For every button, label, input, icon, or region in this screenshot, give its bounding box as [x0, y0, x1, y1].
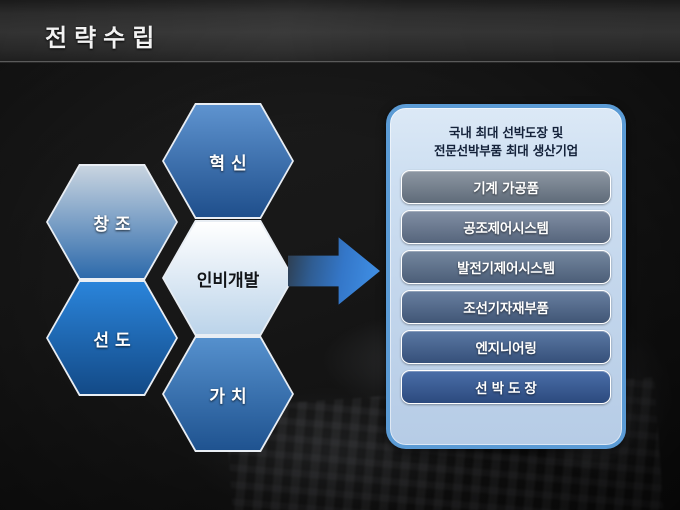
capability-item-label: 공조제어시스템 [463, 217, 549, 237]
capability-item[interactable]: 기계 가공품 [401, 170, 611, 204]
panel-heading: 국내 최대 선박도장 및 전문선박부품 최대 생산기업 [401, 124, 611, 160]
hexagon-label-leadership: 선도 [87, 326, 136, 351]
capability-item[interactable]: 조선기자재부품 [401, 290, 611, 324]
capability-item-label: 발전기제어시스템 [457, 257, 555, 277]
capability-item[interactable]: 선박도장 [401, 370, 611, 404]
capability-item-label: 조선기자재부품 [463, 297, 549, 317]
capability-item[interactable]: 공조제어시스템 [401, 210, 611, 244]
capability-item[interactable]: 엔지니어링 [401, 330, 611, 364]
slide-canvas: 전략수립 혁신창조인비개발선도가치 국내 최대 선박도장 및 전문선박부품 최대… [0, 0, 680, 510]
panel-heading-line-2: 전문선박부품 최대 생산기업 [401, 142, 611, 160]
capability-item-label: 기계 가공품 [473, 177, 539, 197]
capability-item-label: 엔지니어링 [475, 337, 536, 357]
capability-item[interactable]: 발전기제어시스템 [401, 250, 611, 284]
capability-panel: 국내 최대 선박도장 및 전문선박부품 최대 생산기업 기계 가공품공조제어시스… [386, 104, 626, 449]
panel-heading-line-1: 국내 최대 선박도장 및 [401, 124, 611, 142]
capability-list: 기계 가공품공조제어시스템발전기제어시스템조선기자재부품엔지니어링선박도장 [401, 170, 611, 435]
header-divider [0, 61, 680, 63]
capability-item-label: 선박도장 [471, 377, 541, 397]
page-title: 전략수립 [45, 18, 161, 53]
hexagon-label-innovation: 혁신 [203, 149, 252, 174]
hexagon-label-value: 가치 [203, 382, 252, 407]
hexagon-label-inbi-development: 인비개발 [197, 266, 260, 291]
hexagon-label-creation: 창조 [87, 210, 136, 235]
